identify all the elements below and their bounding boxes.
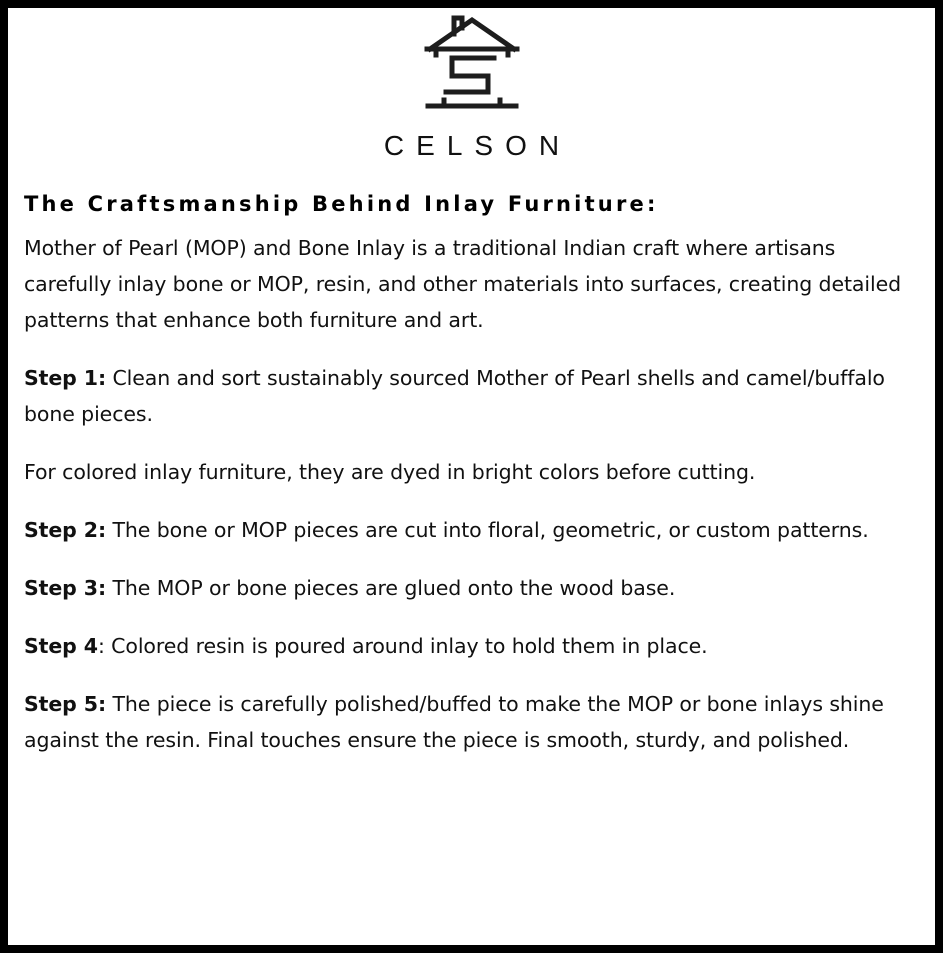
paragraph-step-5: Step 5: The piece is carefully polished/… — [24, 686, 914, 758]
paragraph-text: Colored resin is poured around inlay to … — [105, 634, 708, 658]
poster-inner: CELSON The Craftsmanship Behind Inlay Fu… — [8, 8, 935, 945]
paragraph-intro: Mother of Pearl (MOP) and Bone Inlay is … — [24, 230, 914, 338]
paragraph-text: The bone or MOP pieces are cut into flor… — [106, 518, 869, 542]
paragraph-step-2: Step 2: The bone or MOP pieces are cut i… — [24, 512, 914, 548]
paragraph-text: The MOP or bone pieces are glued onto th… — [106, 576, 675, 600]
step-label-colon: : — [98, 634, 105, 658]
poster-frame: CELSON The Craftsmanship Behind Inlay Fu… — [0, 0, 943, 953]
house-logo-icon — [422, 14, 522, 118]
step-label: Step 4 — [24, 634, 98, 658]
step-label: Step 5: — [24, 692, 106, 716]
paragraph-text: Clean and sort sustainably sourced Mothe… — [24, 366, 885, 426]
paragraph-step-3: Step 3: The MOP or bone pieces are glued… — [24, 570, 914, 606]
brand-wordmark: CELSON — [16, 132, 927, 160]
paragraph-step-1: Step 1: Clean and sort sustainably sourc… — [24, 360, 914, 432]
step-label: Step 2: — [24, 518, 106, 542]
paragraph-text: For colored inlay furniture, they are dy… — [24, 460, 755, 484]
step-label: Step 3: — [24, 576, 106, 600]
brand-header: CELSON — [16, 8, 927, 160]
paragraph-step-4: Step 4: Colored resin is poured around i… — [24, 628, 914, 664]
step-label: Step 1: — [24, 366, 106, 390]
paragraph-text: Mother of Pearl (MOP) and Bone Inlay is … — [24, 236, 901, 332]
paragraph-text: The piece is carefully polished/buffed t… — [24, 692, 884, 752]
page-title: The Craftsmanship Behind Inlay Furniture… — [24, 193, 927, 216]
paragraph-colored-inlay-note: For colored inlay furniture, they are dy… — [24, 454, 914, 490]
body-copy: Mother of Pearl (MOP) and Bone Inlay is … — [24, 216, 914, 758]
